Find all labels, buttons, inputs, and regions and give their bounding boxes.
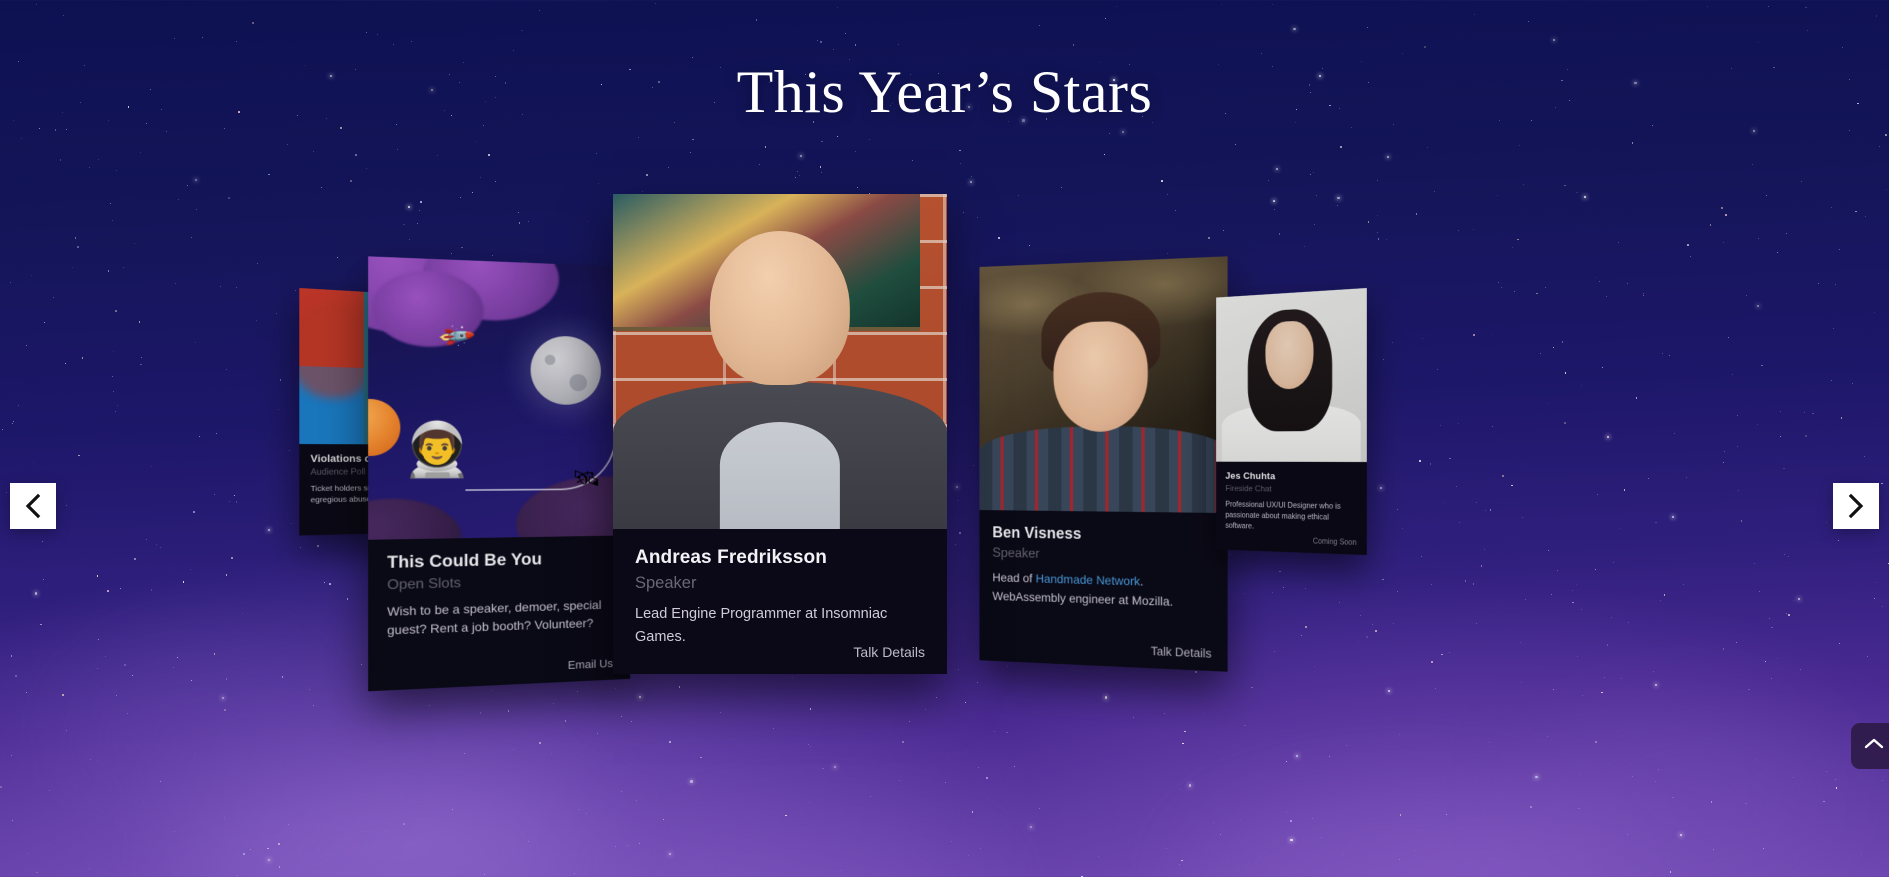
carousel-prev-button[interactable]: [10, 483, 56, 529]
scroll-to-top-button[interactable]: [1851, 723, 1889, 769]
card-media-space-illustration: 🚀 👨‍🚀 🛰: [368, 256, 630, 539]
chevron-left-icon: [23, 492, 43, 520]
speaker-card-andreas-fredriksson[interactable]: Andreas Fredriksson Speaker Lead Engine …: [613, 194, 947, 674]
card-title: Ben Visness: [992, 524, 1213, 547]
card-description: Wish to be a speaker, demoer, special gu…: [387, 596, 613, 641]
card-title: Jes Chuhta: [1225, 470, 1356, 483]
card-cta[interactable]: Talk Details: [853, 644, 925, 660]
card-description-text: Lead Engine Programmer at Insomniac Game…: [635, 606, 887, 644]
speaker-photo-ben: [979, 256, 1227, 513]
card-body: Ben Visness Speaker Head of Handmade Net…: [979, 510, 1227, 672]
card-cta[interactable]: Talk Details: [1151, 645, 1212, 661]
card-description: Head of Handmade Network. WebAssembly en…: [992, 569, 1213, 613]
card-title: Andreas Fredriksson: [635, 547, 925, 570]
planet-icon: [368, 399, 400, 456]
speaker-carousel: iSfGtinP@#▶✉☁♪★◉◆✦⬤▣✚ Violations of User…: [0, 0, 1889, 877]
speaker-card-jes-chuhta[interactable]: Jes Chuhta Fireside Chat Professional UX…: [1216, 288, 1367, 555]
card-description: Lead Engine Programmer at Insomniac Game…: [635, 603, 925, 648]
speaker-photo-jes: [1216, 288, 1367, 462]
card-media-photo: [613, 194, 947, 529]
card-cta[interactable]: Email Us: [568, 657, 613, 672]
card-media-photo: [979, 256, 1227, 513]
speaker-photo-andreas: [613, 194, 947, 529]
card-description: Professional UX/UI Designer who is passi…: [1225, 499, 1356, 535]
card-role: Speaker: [992, 545, 1213, 567]
card-body: Jes Chuhta Fireside Chat Professional UX…: [1216, 462, 1367, 555]
card-role: Speaker: [635, 573, 925, 594]
astronaut-icon: 👨‍🚀: [402, 418, 471, 481]
card-body: This Could Be You Open Slots Wish to be …: [368, 535, 630, 691]
speaker-card-this-could-be-you[interactable]: 🚀 👨‍🚀 🛰 This Could Be You Open Slots Wis…: [368, 256, 630, 691]
card-media-photo: [1216, 288, 1367, 462]
card-role: Open Slots: [387, 571, 613, 594]
card-title: This Could Be You: [387, 549, 613, 574]
carousel-next-button[interactable]: [1833, 483, 1879, 529]
card-description-text: Wish to be a speaker, demoer, special gu…: [387, 598, 601, 638]
card-body: Andreas Fredriksson Speaker Lead Engine …: [613, 529, 947, 674]
card-description-text: Professional UX/UI Designer who is passi…: [1225, 500, 1340, 531]
chevron-up-icon: [1863, 737, 1885, 756]
card-cta[interactable]: Coming Soon: [1313, 538, 1357, 548]
satellite-icon: 🛰: [572, 465, 601, 492]
space-illustration-graphic: 🚀 👨‍🚀 🛰: [368, 256, 630, 539]
page-title: This Year’s Stars: [0, 58, 1889, 127]
handmade-network-link[interactable]: Handmade Network: [1036, 571, 1140, 588]
chevron-right-icon: [1846, 492, 1866, 520]
card-role: Fireside Chat: [1225, 484, 1356, 496]
speaker-card-ben-visness[interactable]: Ben Visness Speaker Head of Handmade Net…: [979, 256, 1227, 671]
moon-icon: [531, 335, 601, 405]
card-description-prefix: Head of: [992, 570, 1035, 585]
